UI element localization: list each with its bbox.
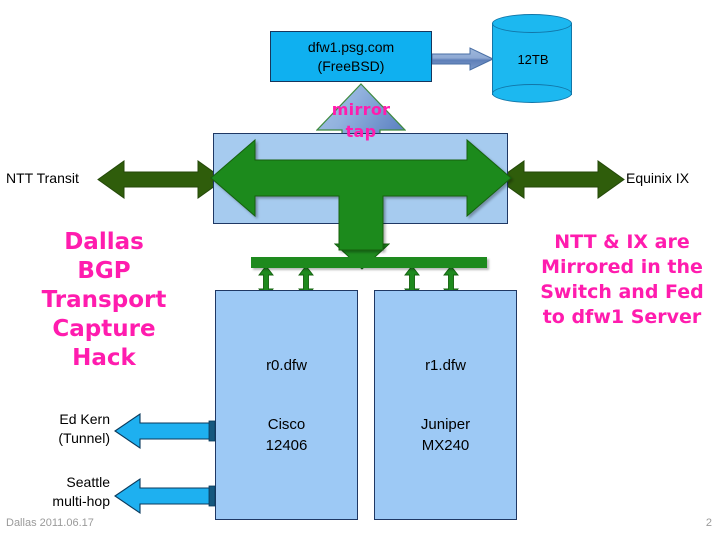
edge-label-1-line2: (Tunnel) [0,429,110,448]
footer-page-number: 2 [706,517,712,529]
footer-date: Dallas 2011.06.17 [6,517,94,529]
server-os: (FreeBSD) [318,57,385,76]
edge-label-2-line2: multi-hop [0,492,110,511]
edge-link-arrow-ed-kern-icon [114,412,214,450]
mirror-tap-line1: mirror [316,99,406,121]
slide-canvas: dfw1.psg.com (FreeBSD) 12TB [0,0,720,540]
ntt-transit-label: NTT Transit [6,170,79,186]
edge-label-1-line1: Ed Kern [0,410,110,429]
edge-link-arrow-seattle-icon [114,477,214,515]
router-r1-vendor: Juniper [421,414,470,435]
equinix-ix-label: Equinix IX [626,170,689,186]
server-hostname: dfw1.psg.com [308,38,394,57]
router-r0-name: r0.dfw [266,355,307,376]
mirror-tap-line2: tap [316,121,406,143]
router-box-r1-dfw[interactable]: r1.dfw Juniper MX240 [374,290,517,520]
storage-cylinder-12tb[interactable]: 12TB [492,14,574,104]
switch-internal-arrows-icon [205,130,517,290]
router-r0-vendor: Cisco [268,414,306,435]
edge-label-2-line1: Seattle [0,473,110,492]
router-r1-name: r1.dfw [425,355,466,376]
callout-right-description: NTT & IX are Mirrored in the Switch and … [524,230,720,330]
server-box-dfw1[interactable]: dfw1.psg.com (FreeBSD) [270,31,432,82]
edge-link-label-seattle: Seattle multi-hop [0,473,110,511]
router-r1-model: MX240 [422,435,470,456]
router-r0-model: 12406 [266,435,308,456]
storage-capacity-label: 12TB [492,14,574,104]
edge-link-label-ed-kern: Ed Kern (Tunnel) [0,410,110,448]
callout-left-title: Dallas BGP Transport Capture Hack [14,228,194,373]
storage-feed-arrow-icon [432,47,494,71]
mirror-tap-label: mirror tap [316,99,406,143]
router-box-r0-dfw[interactable]: r0.dfw Cisco 12406 [215,290,358,520]
